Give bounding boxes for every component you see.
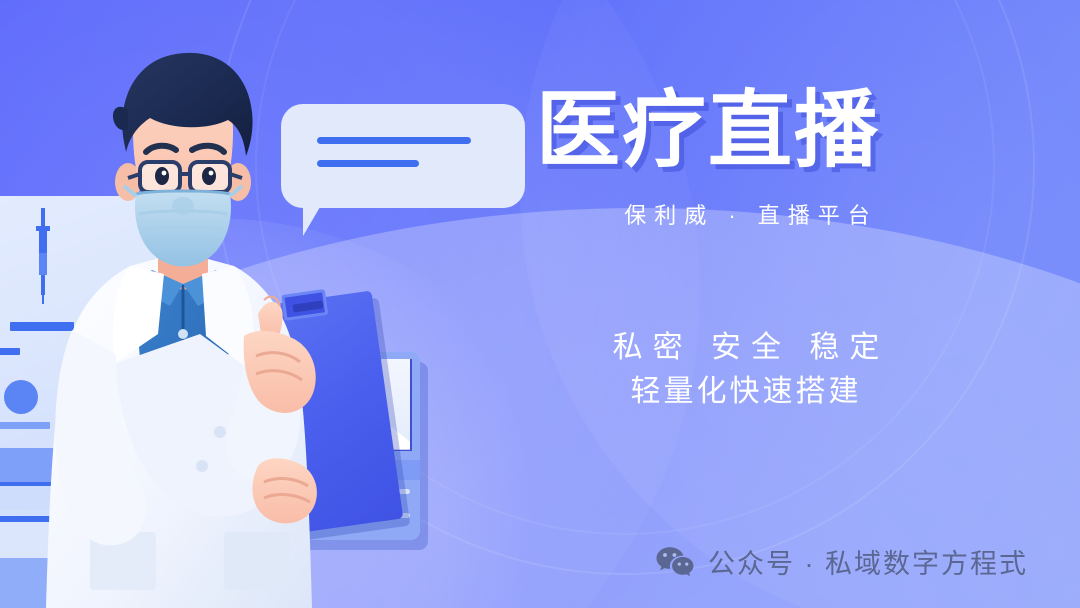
- footer-text: 公众号 · 私域数字方程式: [708, 542, 1028, 581]
- feature-list: 私密 安全 稳定 轻量化快速搭建: [536, 326, 956, 414]
- hair-sideburn: [113, 107, 128, 130]
- coat-button-2: [196, 460, 208, 472]
- speech-bubble-body: [281, 104, 525, 208]
- feature-line-2: 轻量化快速搭建: [536, 370, 956, 414]
- mask-nose-bump: [172, 197, 194, 215]
- speech-bubble-line-2: [317, 160, 419, 167]
- speech-bubble-line-1: [317, 137, 471, 144]
- wechat-icon: [656, 546, 694, 578]
- footer-credit: 公众号 · 私域数字方程式: [656, 542, 1028, 581]
- speech-bubble-tail: [303, 202, 323, 236]
- head: [113, 53, 253, 267]
- eye-highlight-right: [209, 171, 214, 176]
- headline-block: 医疗直播 保利威 · 直播平台: [536, 88, 956, 230]
- eye-right: [202, 167, 216, 185]
- feature-line-1: 私密 安全 稳定: [536, 326, 956, 370]
- hand-gripping: [252, 458, 316, 523]
- eye-highlight-left: [162, 171, 167, 176]
- grip-fist: [252, 458, 316, 523]
- coat-pocket-right: [224, 532, 290, 590]
- poster-canvas: 医疗直播 保利威 · 直播平台 私密 安全 稳定 轻量化快速搭建 公众号 · 私…: [0, 0, 1080, 608]
- shirt-button-1: [178, 329, 188, 339]
- eye-left: [155, 167, 169, 185]
- page-title: 医疗直播: [536, 88, 956, 172]
- speech-bubble-icon: [281, 104, 525, 208]
- page-subtitle: 保利威 · 直播平台: [536, 198, 956, 230]
- coat-button-1: [214, 426, 226, 438]
